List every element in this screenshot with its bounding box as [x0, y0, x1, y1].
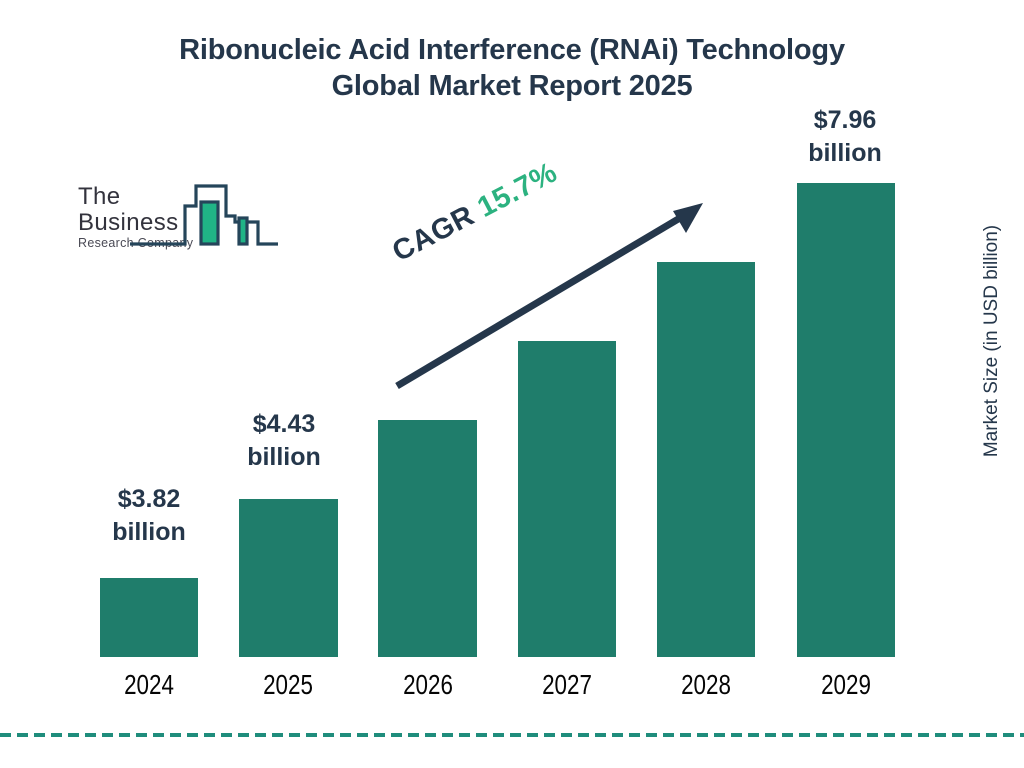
value-label-2024-unit: billion — [84, 516, 214, 549]
x-tick-2028: 2028 — [654, 668, 758, 702]
value-label-2025: $4.43 billion — [219, 408, 349, 474]
value-label-2024-amount: $3.82 — [84, 483, 214, 516]
x-tick-2029: 2029 — [794, 668, 898, 702]
title-line-1: Ribonucleic Acid Interference (RNAi) Tec… — [179, 34, 845, 66]
value-label-2029-amount: $7.96 — [780, 104, 910, 137]
x-tick-2026: 2026 — [376, 668, 480, 702]
x-tick-2027: 2027 — [515, 668, 619, 702]
x-tick-2024: 2024 — [97, 668, 201, 702]
page-title: Ribonucleic Acid Interference (RNAi) Tec… — [0, 32, 1024, 104]
y-axis-title: Market Size (in USD billion) — [981, 221, 1003, 461]
x-tick-2025: 2025 — [236, 668, 340, 702]
bar-2029 — [797, 183, 895, 657]
value-label-2024: $3.82 billion — [84, 483, 214, 549]
logo-bars-icon — [78, 178, 283, 250]
bar-2025 — [239, 499, 338, 657]
value-label-2029-unit: billion — [780, 137, 910, 170]
company-logo: The Business Research Company — [78, 178, 283, 250]
value-label-2025-amount: $4.43 — [219, 408, 349, 441]
value-label-2025-unit: billion — [219, 441, 349, 474]
title-line-2: Global Market Report 2025 — [0, 68, 1024, 104]
bar-2024 — [100, 578, 198, 657]
footer-divider — [0, 733, 1024, 737]
bar-2026 — [378, 420, 477, 657]
chart-canvas: Ribonucleic Acid Interference (RNAi) Tec… — [0, 0, 1024, 768]
value-label-2029: $7.96 billion — [780, 104, 910, 170]
